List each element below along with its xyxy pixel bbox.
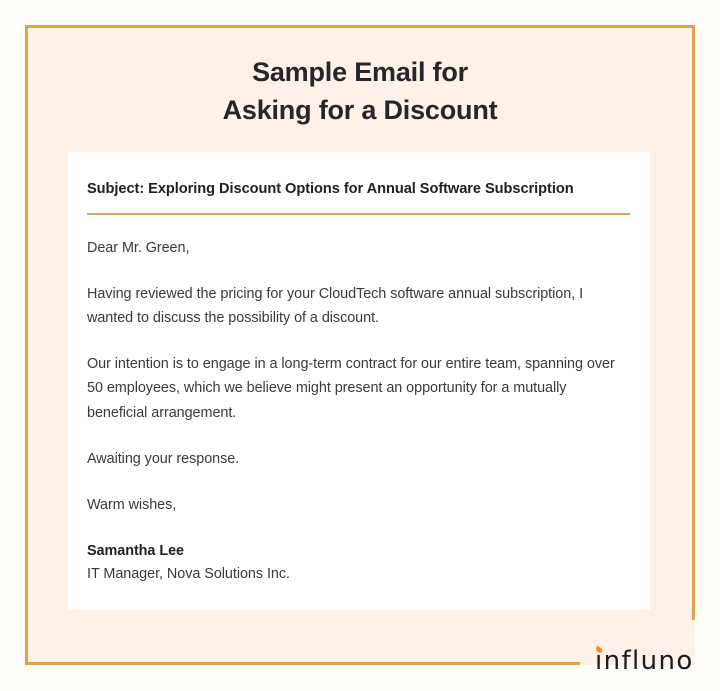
email-paragraph-2: Our intention is to engage in a long-ter… (87, 352, 630, 425)
email-signature: Samantha Lee IT Manager, Nova Solutions … (87, 540, 630, 587)
email-salutation: Dear Mr. Green, (87, 236, 630, 260)
page-title: Sample Email for Asking for a Discount (25, 53, 695, 130)
flame-accent-icon (592, 644, 606, 674)
frame-border-top (25, 25, 695, 28)
poster-frame: Sample Email for Asking for a Discount S… (25, 25, 695, 665)
subject-divider (87, 213, 630, 215)
frame-border-bottom (25, 662, 580, 665)
signature-name: Samantha Lee (87, 540, 630, 563)
email-paragraph-3: Awaiting your response. (87, 447, 630, 471)
email-card: Subject: Exploring Discount Options for … (68, 152, 650, 610)
email-closing: Warm wishes, (87, 493, 630, 517)
page-title-line-1: Sample Email for (25, 53, 695, 91)
logo-wordmark: influno (595, 648, 694, 674)
email-paragraph-1: Having reviewed the pricing for your Clo… (87, 282, 630, 330)
email-subject: Subject: Exploring Discount Options for … (87, 178, 630, 202)
signature-title: IT Manager, Nova Solutions Inc. (87, 563, 630, 586)
page-title-line-2: Asking for a Discount (25, 91, 695, 129)
influno-logo: influno (592, 640, 694, 674)
